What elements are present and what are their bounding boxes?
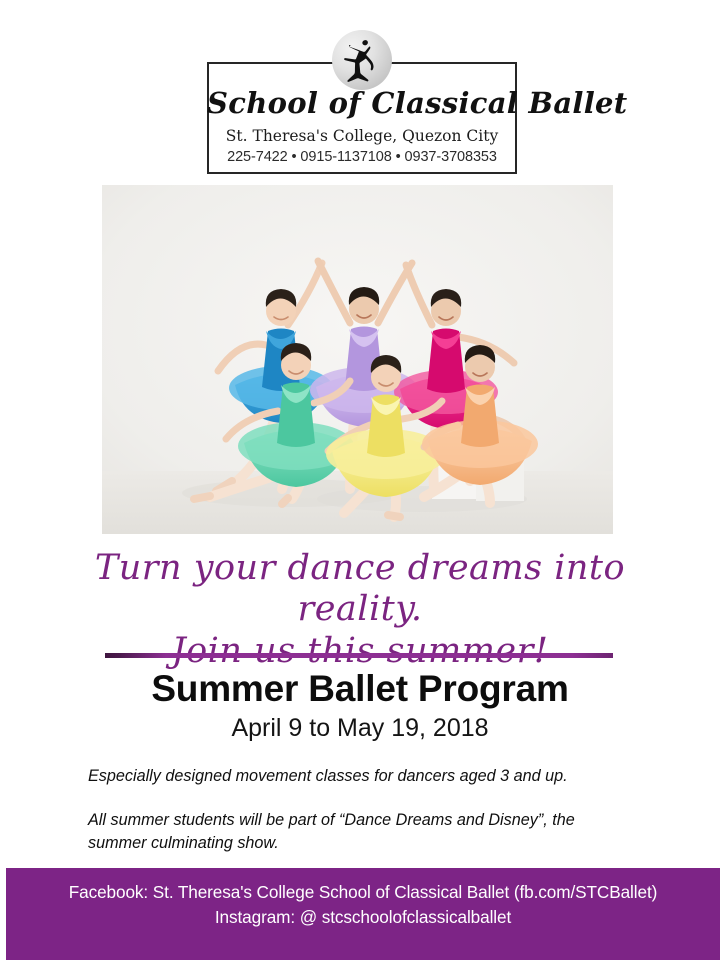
school-phone-numbers: 225-7422 • 0915-1137108 • 0937-3708353	[207, 149, 517, 165]
ballet-poster: { "logo": { "emblem_icon": "ballerina-si…	[0, 0, 720, 960]
school-location: St. Theresa's College, Quezon City	[207, 127, 517, 145]
school-name: School of Classical Ballet	[207, 86, 517, 120]
ballerinas-photo	[102, 185, 613, 534]
social-footer-banner: Facebook: St. Theresa's College School o…	[6, 868, 720, 960]
tagline-line-2: Join us this summer!	[60, 631, 660, 672]
program-title: Summer Ballet Program	[0, 668, 720, 710]
instagram-handle[interactable]: Instagram: @ stcschoolofclassicalballet	[6, 903, 720, 928]
ballerinas-illustration	[102, 185, 613, 534]
section-divider	[105, 653, 613, 658]
description-paragraph-2: All summer students will be part of “Dan…	[88, 809, 633, 854]
program-description: Especially designed movement classes for…	[88, 765, 633, 854]
description-paragraph-1: Especially designed movement classes for…	[88, 765, 633, 787]
tagline-line-1: Turn your dance dreams into reality.	[60, 548, 660, 631]
facebook-link[interactable]: Facebook: St. Theresa's College School o…	[6, 868, 720, 903]
program-dates: April 9 to May 19, 2018	[0, 714, 720, 743]
school-logo-block: School of Classical Ballet St. Theresa's…	[207, 30, 517, 176]
ballerina-silhouette-icon	[332, 30, 392, 90]
